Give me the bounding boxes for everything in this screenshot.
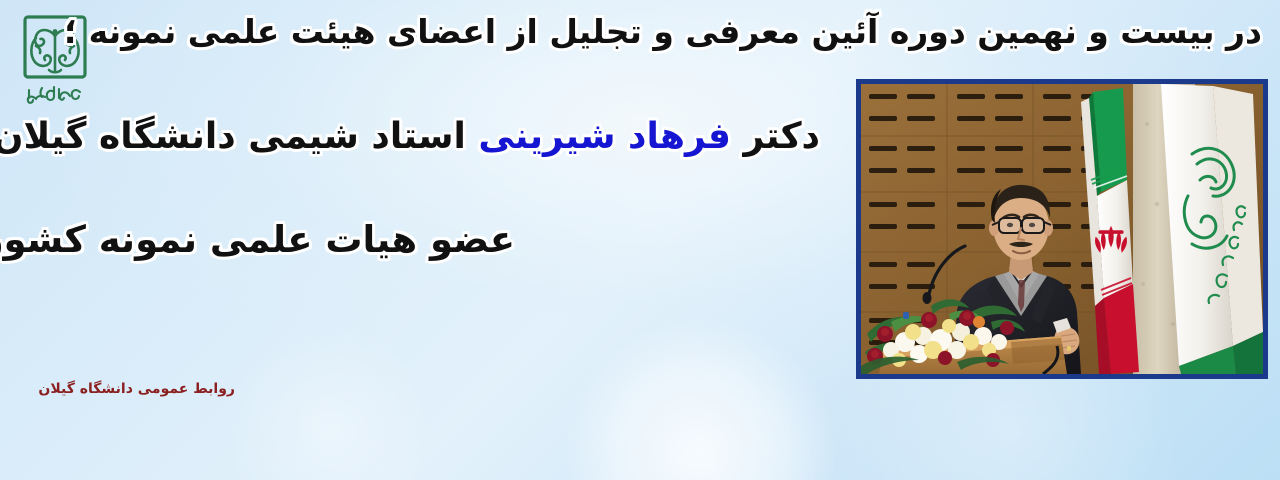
headline-line-2-prefix: دکتر [731, 116, 820, 157]
headline-line-3: عضو هیات علمی نمونه کشوری شد [0, 220, 515, 261]
headline-line-2: دکتر فرهاد شیرینی استاد شیمی دانشگاه گیل… [0, 117, 820, 157]
headline-line-2-suffix: استاد شیمی دانشگاه گیلان ، [0, 116, 478, 157]
public-relations-credit: روابط عمومی دانشگاه گیلان [38, 381, 235, 397]
professor-name: فرهاد شیرینی [478, 116, 731, 157]
headline-line-1: در بیست و نهمین دوره آئین معرفی و تجلیل … [64, 14, 1262, 50]
speaker-at-podium-photo [856, 79, 1268, 379]
photo-content [861, 84, 1263, 374]
news-banner: در بیست و نهمین دوره آئین معرفی و تجلیل … [0, 0, 1280, 480]
